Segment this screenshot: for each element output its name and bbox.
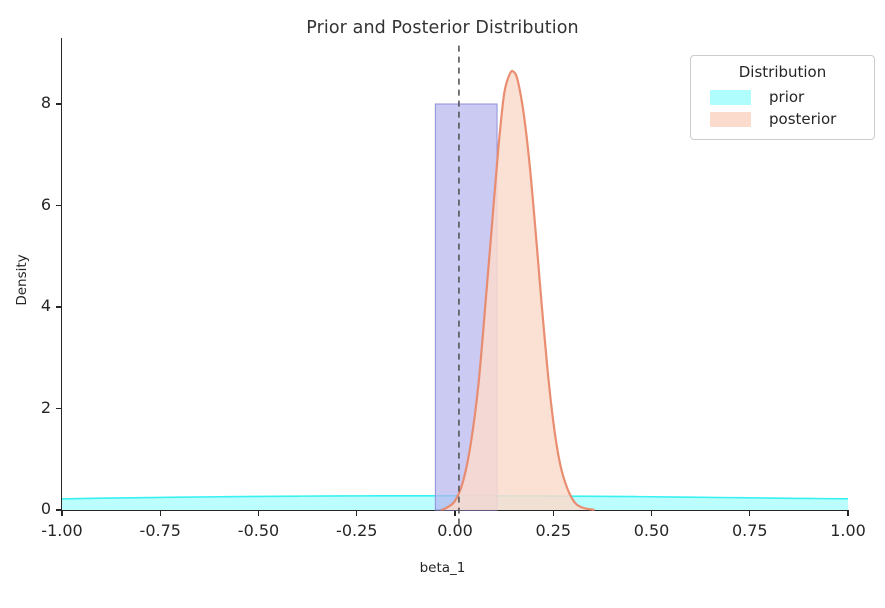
x-tick-mark bbox=[454, 511, 455, 516]
x-tick-mark bbox=[651, 511, 652, 516]
y-tick-mark bbox=[56, 306, 61, 307]
x-tick-label: 0.00 bbox=[410, 521, 500, 540]
y-tick-mark bbox=[56, 408, 61, 409]
legend-swatch-prior bbox=[710, 90, 751, 105]
y-tick-mark bbox=[56, 205, 61, 206]
chart-figure: Prior and Posterior Distribution Density… bbox=[0, 0, 885, 608]
x-tick-mark bbox=[356, 511, 357, 516]
x-tick-label: 1.00 bbox=[803, 521, 885, 540]
legend-swatch-posterior bbox=[710, 112, 751, 127]
x-axis-label: beta_1 bbox=[0, 560, 885, 576]
x-tick-mark bbox=[160, 511, 161, 516]
legend-title: Distribution bbox=[701, 63, 864, 81]
x-tick-label: -1.00 bbox=[17, 521, 107, 540]
y-tick-label: 6 bbox=[11, 195, 51, 214]
x-tick-label: -0.75 bbox=[115, 521, 205, 540]
x-tick-label: 0.75 bbox=[705, 521, 795, 540]
x-tick-label: 0.25 bbox=[508, 521, 598, 540]
x-tick-mark bbox=[61, 511, 62, 516]
x-tick-mark bbox=[258, 511, 259, 516]
x-tick-label: -0.25 bbox=[312, 521, 402, 540]
x-tick-mark bbox=[749, 511, 750, 516]
x-tick-mark bbox=[553, 511, 554, 516]
chart-title: Prior and Posterior Distribution bbox=[0, 18, 885, 38]
y-tick-label: 4 bbox=[11, 296, 51, 315]
y-tick-label: 2 bbox=[11, 398, 51, 417]
legend-label-prior: prior bbox=[769, 88, 804, 106]
x-tick-label: 0.50 bbox=[607, 521, 697, 540]
legend-item-prior[interactable]: prior bbox=[701, 86, 864, 108]
x-tick-mark bbox=[847, 511, 848, 516]
y-tick-label: 8 bbox=[11, 93, 51, 112]
y-tick-mark bbox=[56, 103, 61, 104]
y-tick-label: 0 bbox=[11, 499, 51, 518]
legend-box: Distribution prior posterior bbox=[690, 55, 875, 140]
x-tick-label: -0.50 bbox=[214, 521, 304, 540]
legend-item-posterior[interactable]: posterior bbox=[701, 108, 864, 130]
y-tick-mark bbox=[56, 509, 61, 510]
legend-label-posterior: posterior bbox=[769, 110, 836, 128]
